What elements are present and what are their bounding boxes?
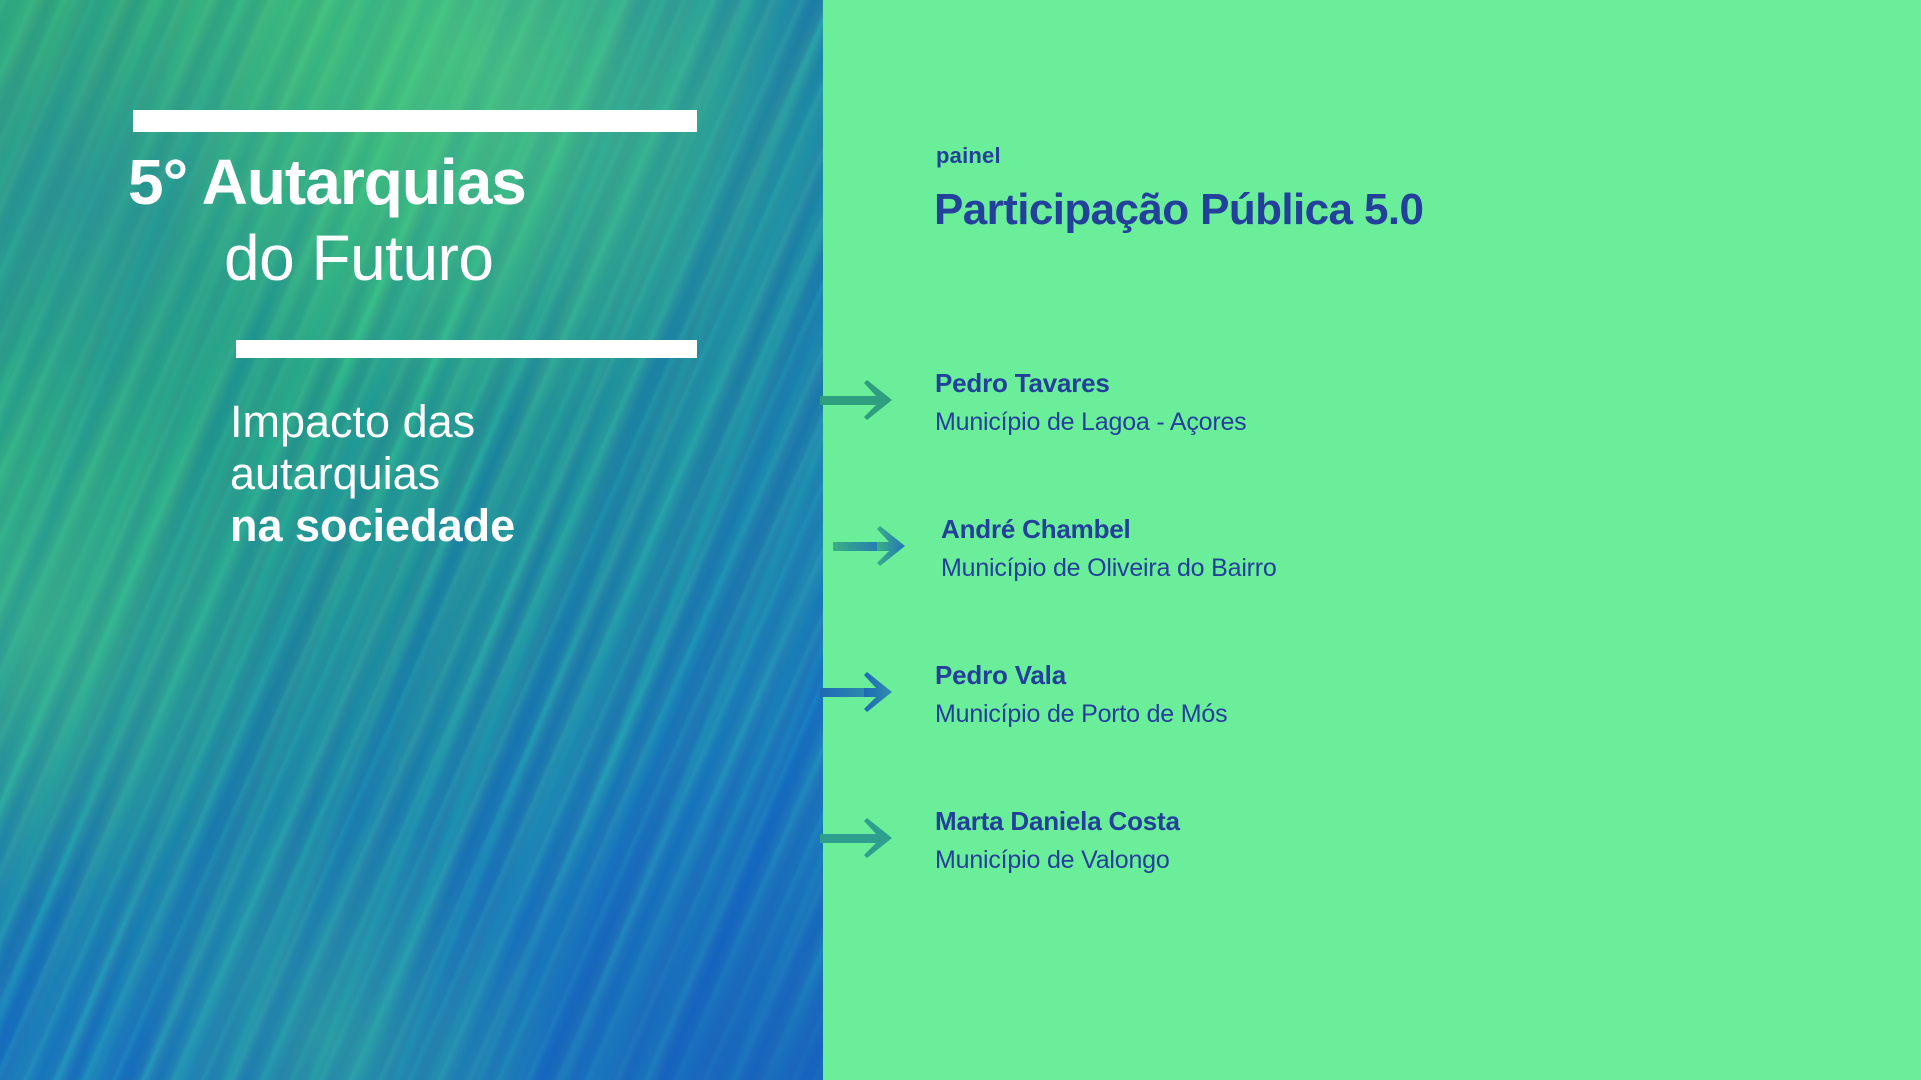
speaker-row: Marta Daniela Costa Município de Valongo xyxy=(823,804,1921,950)
divider-rule-top xyxy=(133,110,697,132)
speaker-organization: Município de Porto de Mós xyxy=(935,700,1227,729)
right-info-panel: painel Participação Pública 5.0 Pedro Ta… xyxy=(823,0,1921,1080)
left-hero-panel: 5° Autarquias do Futuro Impacto das auta… xyxy=(0,0,823,1080)
headline-line-1: 5° Autarquias xyxy=(128,150,823,214)
speaker-row: Pedro Vala Município de Porto de Mós xyxy=(823,658,1921,804)
event-headline: 5° Autarquias do Futuro xyxy=(128,150,823,290)
speaker-name: Pedro Tavares xyxy=(935,368,1110,399)
speaker-name: Pedro Vala xyxy=(935,660,1066,691)
speaker-list: Pedro Tavares Município de Lagoa - Açore… xyxy=(823,366,1921,950)
speaker-organization: Município de Valongo xyxy=(935,846,1170,875)
speaker-name: André Chambel xyxy=(941,514,1131,545)
subhead-line-1: Impacto das xyxy=(230,396,790,448)
slide-root: 5° Autarquias do Futuro Impacto das auta… xyxy=(0,0,1921,1080)
speaker-row: Pedro Tavares Município de Lagoa - Açore… xyxy=(823,366,1921,512)
panel-title: Participação Pública 5.0 xyxy=(934,185,1423,235)
arrow-right-icon xyxy=(833,526,911,566)
divider-rule-middle xyxy=(236,340,697,358)
arrow-right-icon xyxy=(820,818,898,858)
event-subheadline: Impacto das autarquias na sociedade xyxy=(230,396,790,553)
speaker-name: Marta Daniela Costa xyxy=(935,806,1180,837)
speaker-row: André Chambel Município de Oliveira do B… xyxy=(823,512,1921,658)
speaker-organization: Município de Lagoa - Açores xyxy=(935,408,1246,437)
headline-line-2: do Futuro xyxy=(128,226,823,290)
subhead-line-2: autarquias xyxy=(230,448,790,500)
panel-eyebrow: painel xyxy=(936,143,1001,169)
arrow-right-icon xyxy=(820,380,898,420)
subhead-line-3: na sociedade xyxy=(230,500,790,552)
arrow-right-icon xyxy=(820,672,898,712)
speaker-organization: Município de Oliveira do Bairro xyxy=(941,554,1277,583)
